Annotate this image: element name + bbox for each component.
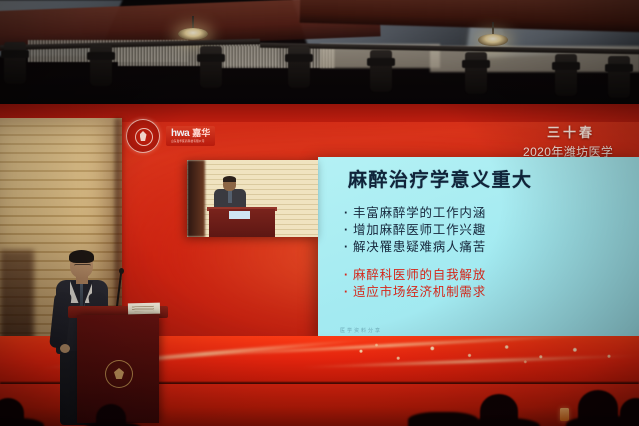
slide-bullet-list: 丰富麻醉学的工作内涵 增加麻醉医师工作兴趣 解决罹患疑难病人痛苦 麻醉科医师的自… [344, 205, 486, 301]
stage-spotlight-fixture [370, 50, 392, 92]
sponsor-logo-block: hwa 嘉华 山东嘉华医药科技有限公司 [166, 126, 215, 146]
slide-bullet-item-accent: 适应市场经济机制需求 [344, 284, 486, 301]
slide-bullet-spacer [344, 256, 486, 267]
microphone-icon [119, 268, 124, 274]
slide-surface: 麻醉治疗学意义重大 丰富麻醉学的工作内涵 增加麻醉医师工作兴趣 解决罹患疑难病人… [318, 157, 639, 340]
slide-watermark: 医学资料分享 [340, 327, 382, 334]
stage-spotlight-fixture [288, 46, 310, 88]
sponsor-subtitle: 山东嘉华医药科技有限公司 [171, 141, 210, 144]
ceiling-vent-grille [215, 46, 335, 68]
slide-bullet-item: 增加麻醉医师工作兴趣 [344, 222, 486, 239]
stage-spotlight-fixture [90, 44, 112, 86]
audience-shoulders-silhouette [84, 422, 142, 426]
podium-notes-paper [128, 303, 160, 315]
slide-bullet-item-accent: 麻醉科医师的自我解放 [344, 267, 486, 284]
feed-side-shadow [187, 160, 205, 237]
sponsor-chinese-name: 嘉华 [192, 129, 210, 138]
backdrop-logo-group: hwa 嘉华 山东嘉华医药科技有限公司 [126, 119, 215, 153]
feed-podium-paper [229, 211, 250, 219]
speaker-hand [60, 344, 70, 353]
audience-shoulders-silhouette [462, 418, 540, 426]
sponsor-mark: hwa 嘉华 [171, 129, 210, 139]
speaker-glasses-icon [74, 264, 91, 269]
auditorium-ceiling [0, 0, 639, 112]
ceiling-lamp-icon [478, 34, 508, 46]
feed-speaker-tie [228, 190, 232, 203]
stage-spotlight-fixture [200, 46, 222, 88]
stage-spotlight-fixture [4, 42, 26, 84]
backdrop-sparkles [330, 340, 639, 368]
stage-spotlight-fixture [555, 54, 577, 96]
university-emblem-icon [126, 119, 160, 153]
slide-bullet-item: 解决罹患疑难病人痛苦 [344, 239, 486, 256]
slide-title: 麻醉治疗学意义重大 [348, 165, 533, 192]
speaker-hair [69, 250, 94, 263]
live-video-feed [187, 160, 318, 237]
projection-screen: 麻醉治疗学意义重大 丰富麻醉学的工作内涵 增加麻醉医师工作兴趣 解决罹患疑难病人… [318, 157, 639, 340]
stage-spotlight-fixture [465, 52, 487, 94]
sponsor-latin-name: hwa [171, 129, 189, 139]
backdrop-headline-line1: 三十春 [519, 122, 639, 141]
podium-emblem-icon [105, 360, 133, 388]
stage-spotlight-fixture [608, 56, 630, 98]
ceiling-lamp-icon [178, 28, 208, 40]
conference-stage-photo: hwa 嘉华 山东嘉华医药科技有限公司 三十春 2020年潍坊医学 麻醉治疗学意… [0, 0, 639, 426]
backdrop-headline: 三十春 2020年潍坊医学 [519, 122, 639, 160]
audience-phone-screen [560, 408, 569, 421]
slide-bullet-item: 丰富麻醉学的工作内涵 [344, 205, 486, 222]
feed-speaker-hair [223, 176, 236, 182]
